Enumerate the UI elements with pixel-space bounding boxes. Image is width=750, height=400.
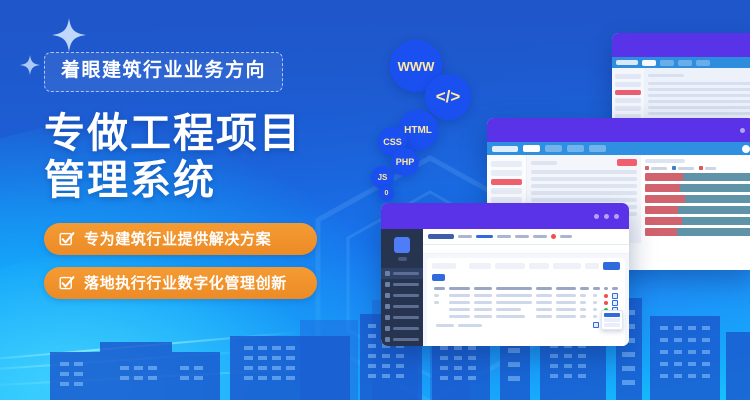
selection-summary	[436, 324, 454, 327]
list-item	[648, 82, 750, 85]
chart-bar	[645, 217, 750, 225]
bubble-php-icon: PHP	[391, 148, 419, 176]
cell-value	[593, 294, 597, 297]
feature-badge-list: 专为建筑行业提供解决方案 落地执行行业数字化管理创新	[44, 223, 344, 299]
cell-value	[536, 315, 552, 318]
notification-badge-icon[interactable]	[551, 234, 556, 239]
cell-value	[474, 308, 492, 311]
sidebar-item[interactable]	[615, 98, 641, 103]
dropdown-item[interactable]	[604, 318, 620, 322]
cell-value	[449, 308, 471, 311]
chart-bar	[645, 184, 750, 192]
column-header	[556, 287, 576, 290]
column-header	[604, 287, 608, 290]
nav-item[interactable]	[497, 235, 511, 238]
list-item	[531, 177, 637, 181]
status-dot-red-icon	[604, 301, 608, 305]
column-header	[496, 287, 532, 290]
data-table	[432, 285, 620, 320]
cell-index	[434, 301, 439, 304]
chart-bar	[645, 228, 750, 236]
feature-badge-2[interactable]: 落地执行行业数字化管理创新	[44, 267, 317, 299]
filter-field[interactable]	[585, 263, 599, 269]
sidebar-item-icon	[385, 315, 390, 320]
sidebar-item[interactable]	[381, 290, 423, 301]
filter-toolbar	[432, 262, 620, 270]
table-row[interactable]	[432, 313, 620, 320]
sidebar-item-icon	[385, 337, 390, 342]
cell-value	[580, 308, 586, 311]
app-logo	[492, 146, 518, 152]
list-item	[531, 198, 637, 202]
column-header	[580, 287, 589, 290]
nav-tab[interactable]	[678, 60, 692, 66]
sidebar-item-icon	[385, 271, 390, 276]
dashboard-sidebar	[381, 229, 423, 346]
app-logo-icon	[394, 237, 410, 253]
nav-tab[interactable]	[642, 60, 656, 66]
legend-entry	[645, 166, 667, 170]
cell-index	[434, 294, 439, 297]
section-heading	[531, 161, 557, 165]
bubble-js-icon: JS	[371, 166, 394, 189]
column-header	[593, 287, 600, 290]
cell-value	[556, 315, 576, 318]
table-header-row	[432, 285, 620, 292]
cell-value	[496, 315, 525, 318]
page-title: 专做工程项目 管理系统	[44, 110, 344, 205]
chart-bar	[645, 206, 750, 214]
list-item	[648, 112, 750, 115]
bulk-action[interactable]	[458, 324, 482, 327]
column-header	[434, 287, 445, 290]
browser-titlebar	[381, 203, 629, 229]
dropdown-item-active[interactable]	[604, 313, 620, 317]
bubble-zero-icon: 0	[379, 186, 394, 201]
bar-chart	[641, 155, 750, 243]
sidebar-item[interactable]	[381, 323, 423, 334]
cell-value	[580, 301, 586, 304]
promo-banner: 着眼建筑行业业务方向 专做工程项目 管理系统 专为建筑行业提供解决方案 落地执行…	[0, 0, 750, 400]
sidebar-item[interactable]	[615, 74, 641, 79]
content-heading	[648, 74, 684, 77]
cell-value	[496, 294, 532, 297]
sidebar-item[interactable]	[615, 82, 641, 87]
cell-value	[474, 301, 492, 304]
cell-value	[536, 301, 552, 304]
nav-tab[interactable]	[545, 145, 562, 152]
list-item	[648, 106, 750, 109]
table-row[interactable]	[432, 299, 620, 306]
column-header	[449, 287, 471, 290]
sidebar-item-label	[393, 316, 419, 319]
nav-item[interactable]	[515, 235, 529, 238]
row-action-icon[interactable]	[612, 300, 618, 306]
check-square-icon	[59, 275, 75, 291]
sidebar-subtitle	[398, 257, 407, 261]
tagline-box: 着眼建筑行业业务方向	[44, 52, 283, 92]
column-header	[612, 287, 618, 290]
status-dot-red-icon	[604, 294, 608, 298]
cell-value	[449, 301, 471, 304]
cell-value	[449, 315, 471, 318]
nav-item[interactable]	[533, 235, 547, 238]
cell-value	[474, 294, 492, 297]
sidebar-item[interactable]	[615, 106, 641, 111]
row-action-dropdown[interactable]	[601, 310, 623, 330]
pagination-page-icon[interactable]	[593, 322, 599, 328]
legend-swatch-icon	[672, 166, 676, 170]
sidebar-item-icon	[385, 326, 390, 331]
cell-value	[593, 315, 597, 318]
app-title	[428, 234, 454, 239]
project-list-dashboard-window[interactable]	[381, 203, 629, 346]
legend-label	[678, 167, 694, 170]
browser-titlebar	[487, 118, 750, 142]
nav-item-active[interactable]	[476, 235, 493, 238]
bubble-code-icon: </>	[425, 74, 471, 120]
sidebar-item[interactable]	[491, 170, 522, 176]
filter-field[interactable]	[469, 263, 491, 269]
cell-value	[556, 308, 576, 311]
nav-tab[interactable]	[567, 145, 584, 152]
cell-value	[536, 294, 552, 297]
sidebar-item[interactable]	[381, 279, 423, 290]
list-item	[648, 100, 750, 103]
sidebar-item-icon	[385, 282, 390, 287]
tagline-text: 着眼建筑行业业务方向	[61, 61, 266, 82]
list-item	[648, 88, 750, 91]
sidebar-item[interactable]	[381, 312, 423, 323]
cell-value	[536, 308, 552, 311]
cell-value	[449, 294, 471, 297]
cell-value	[496, 308, 521, 311]
list-item	[531, 184, 637, 188]
sidebar-item-label	[393, 294, 419, 297]
table-footer	[432, 320, 620, 330]
sidebar-item-label	[393, 338, 419, 341]
sidebar-item[interactable]	[381, 334, 423, 345]
data-table-card	[427, 258, 625, 346]
headline-line-1: 专做工程项目	[44, 110, 344, 158]
user-menu[interactable]	[560, 235, 572, 238]
sidebar-item-active[interactable]	[615, 90, 641, 95]
dropdown-item[interactable]	[604, 323, 620, 327]
filter-select[interactable]	[553, 263, 581, 269]
chart-legend	[645, 166, 750, 170]
sidebar-item-label	[393, 272, 419, 275]
legend-swatch-icon	[699, 166, 703, 170]
legend-entry	[699, 166, 716, 170]
cell-value	[474, 315, 492, 318]
window-dot-icon	[740, 128, 745, 133]
window-dot-icon	[604, 214, 609, 219]
filter-field[interactable]	[529, 263, 549, 269]
sidebar-item-icon	[385, 293, 390, 298]
copy-block: 着眼建筑行业业务方向 专做工程项目 管理系统 专为建筑行业提供解决方案 落地执行…	[44, 52, 344, 311]
chart-bar	[645, 173, 750, 181]
nav-tab[interactable]	[660, 60, 674, 66]
table-row[interactable]	[432, 292, 620, 299]
search-button[interactable]	[603, 262, 620, 270]
nav-item[interactable]	[458, 235, 472, 238]
nav-tab[interactable]	[589, 145, 606, 152]
add-button[interactable]	[432, 274, 445, 281]
list-item	[531, 170, 637, 174]
legend-entry	[672, 166, 694, 170]
legend-label	[651, 167, 667, 170]
list-item	[531, 191, 637, 195]
sidebar-item-label	[393, 305, 419, 308]
sidebar-item-label	[393, 283, 419, 286]
cell-value	[580, 294, 586, 297]
filter-select[interactable]	[495, 263, 525, 269]
filter-label	[432, 263, 456, 269]
avatar[interactable]	[742, 145, 750, 153]
chart-bar	[645, 195, 750, 203]
dashboard-topnav	[612, 57, 750, 68]
cell-value	[556, 301, 576, 304]
cell-value	[593, 308, 597, 311]
primary-button[interactable]	[617, 159, 637, 166]
dashboard-topnav	[487, 142, 750, 155]
dashboard-topbar	[423, 229, 629, 245]
column-header	[536, 287, 552, 290]
cell-value	[556, 294, 576, 297]
chart-title	[645, 159, 685, 163]
feature-badge-2-label: 落地执行行业数字化管理创新	[84, 272, 287, 293]
cell-value	[593, 301, 597, 304]
headline-line-2: 管理系统	[44, 157, 344, 205]
sidebar-item-icon	[385, 304, 390, 309]
dashboard-body	[381, 229, 629, 346]
breadcrumb	[423, 245, 629, 254]
sidebar-item[interactable]	[491, 188, 522, 194]
cell-value	[496, 301, 532, 304]
nav-tab[interactable]	[696, 60, 710, 66]
row-action-icon[interactable]	[612, 293, 618, 299]
window-dot-icon	[594, 214, 599, 219]
dashboard-main	[423, 229, 629, 346]
app-logo	[616, 60, 638, 65]
sidebar-item-label	[393, 327, 419, 330]
browser-titlebar	[612, 33, 750, 57]
sidebar-item[interactable]	[381, 301, 423, 312]
sidebar-item-active[interactable]	[381, 268, 423, 279]
cell-value	[580, 315, 586, 318]
legend-swatch-icon	[645, 166, 649, 170]
nav-tab[interactable]	[523, 145, 540, 152]
sidebar-item[interactable]	[491, 161, 522, 167]
column-header	[474, 287, 492, 290]
feature-badge-1-label: 专为建筑行业提供解决方案	[84, 228, 271, 249]
list-item	[648, 94, 750, 97]
feature-badge-1[interactable]: 专为建筑行业提供解决方案	[44, 223, 317, 255]
table-row[interactable]	[432, 306, 620, 313]
window-dot-icon	[614, 214, 619, 219]
sidebar-item-active[interactable]	[491, 179, 522, 185]
check-square-icon	[59, 231, 75, 247]
legend-label	[705, 167, 716, 170]
